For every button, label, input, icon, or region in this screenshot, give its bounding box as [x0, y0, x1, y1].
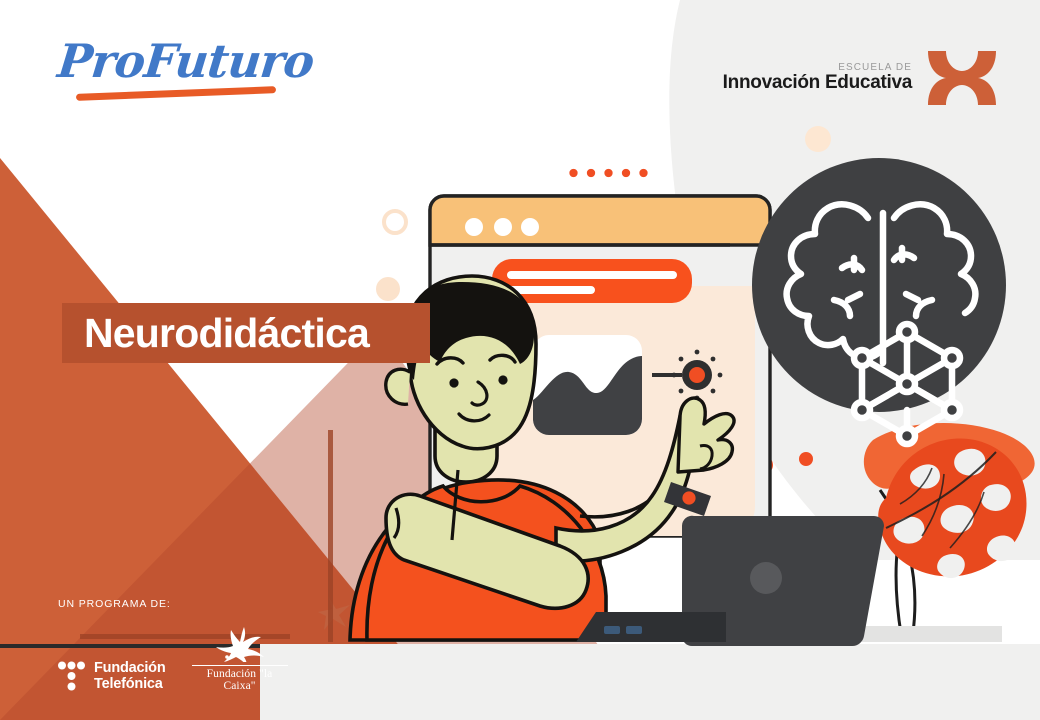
- caixa-rule: [192, 665, 288, 666]
- fundacion-la-caixa-logo[interactable]: Fundación "la Caixa": [192, 626, 288, 692]
- page-title: Neurodidáctica: [84, 313, 369, 354]
- caixa-wordmark: Fundación "la Caixa": [192, 668, 288, 692]
- telefonica-line-2: Telefónica: [94, 676, 163, 692]
- deco-dot: [805, 126, 831, 152]
- x-mark-icon: [924, 49, 1000, 107]
- banner-line: [507, 271, 677, 279]
- escuela-innovacion-lockup[interactable]: ESCUELA DE Innovación Educativa: [700, 48, 1000, 108]
- profuturo-logo-underline: [76, 86, 276, 101]
- profuturo-logo-text: ProFuturo: [56, 38, 341, 84]
- slide-canvas: ProFuturo ESCUELA DE Innovación Educativ…: [0, 0, 1040, 720]
- brain-network-badge: [752, 158, 1006, 444]
- slide-title-banner: Neurodidáctica: [62, 303, 430, 363]
- escuela-name: Innovación Educativa: [723, 73, 912, 93]
- fundacion-telefonica-logo[interactable]: Fundación Telefónica: [58, 660, 166, 692]
- accent-dots-row: [566, 168, 656, 178]
- caixa-star-icon: [214, 626, 266, 662]
- deco-ring: [384, 211, 406, 233]
- telefonica-line-1: Fundación: [94, 660, 166, 676]
- programa-label: UN PROGRAMA DE:: [58, 598, 338, 610]
- sponsor-logos: Fundación Telefónica Fundación "la Caixa…: [58, 626, 338, 692]
- escuela-text-block: ESCUELA DE Innovación Educativa: [723, 63, 912, 93]
- laptop-logo: [750, 562, 782, 594]
- banner-line: [507, 286, 595, 294]
- window-dot: [521, 218, 539, 236]
- monstera-plant: [862, 423, 1035, 642]
- desk-surface: [260, 644, 1040, 720]
- deco-dot: [376, 277, 400, 301]
- telefonica-dots-icon: [58, 661, 85, 691]
- profuturo-logo[interactable]: ProFuturo: [58, 38, 338, 108]
- telefonica-wordmark: Fundación Telefónica: [94, 660, 166, 692]
- stand-dot: [799, 452, 813, 466]
- window-dot: [465, 218, 483, 236]
- programa-footer: UN PROGRAMA DE: Fundación Telefónica: [58, 598, 338, 692]
- window-dot: [494, 218, 512, 236]
